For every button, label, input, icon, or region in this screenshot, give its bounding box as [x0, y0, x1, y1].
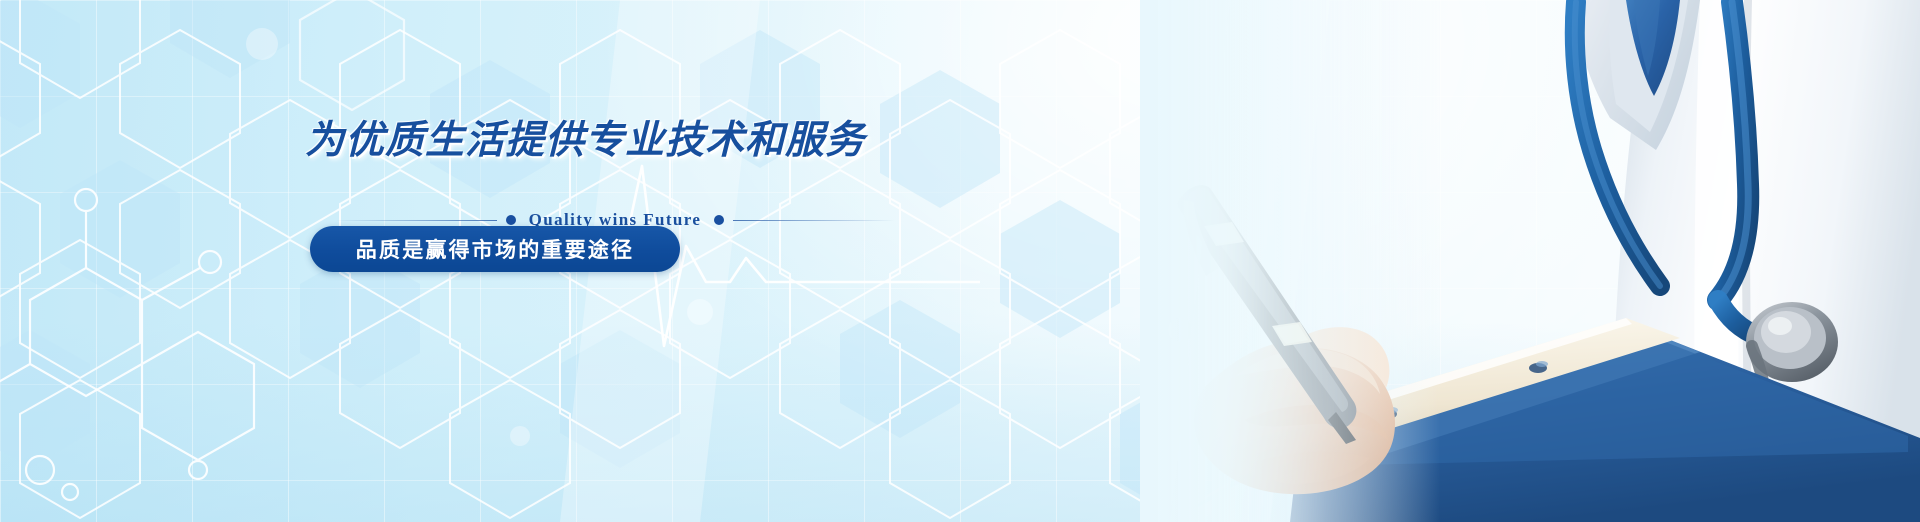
divider-dot-right-icon — [714, 215, 724, 225]
doctor-photo — [1140, 0, 1920, 522]
banner-copy: 为优质生活提供专业技术和服务 Quality wins Future — [305, 118, 945, 230]
divider-rule-left — [335, 220, 497, 221]
slogan-pill-label: 品质是赢得市场的重要途径 — [356, 234, 634, 264]
slogan-pill-button[interactable]: 品质是赢得市场的重要途径 — [310, 226, 680, 272]
divider-rule-right — [733, 220, 895, 221]
divider-dot-left-icon — [506, 215, 516, 225]
banner-headline: 为优质生活提供专业技术和服务 — [305, 118, 945, 164]
hero-banner: 为优质生活提供专业技术和服务 Quality wins Future 品质是赢得… — [0, 0, 1920, 522]
